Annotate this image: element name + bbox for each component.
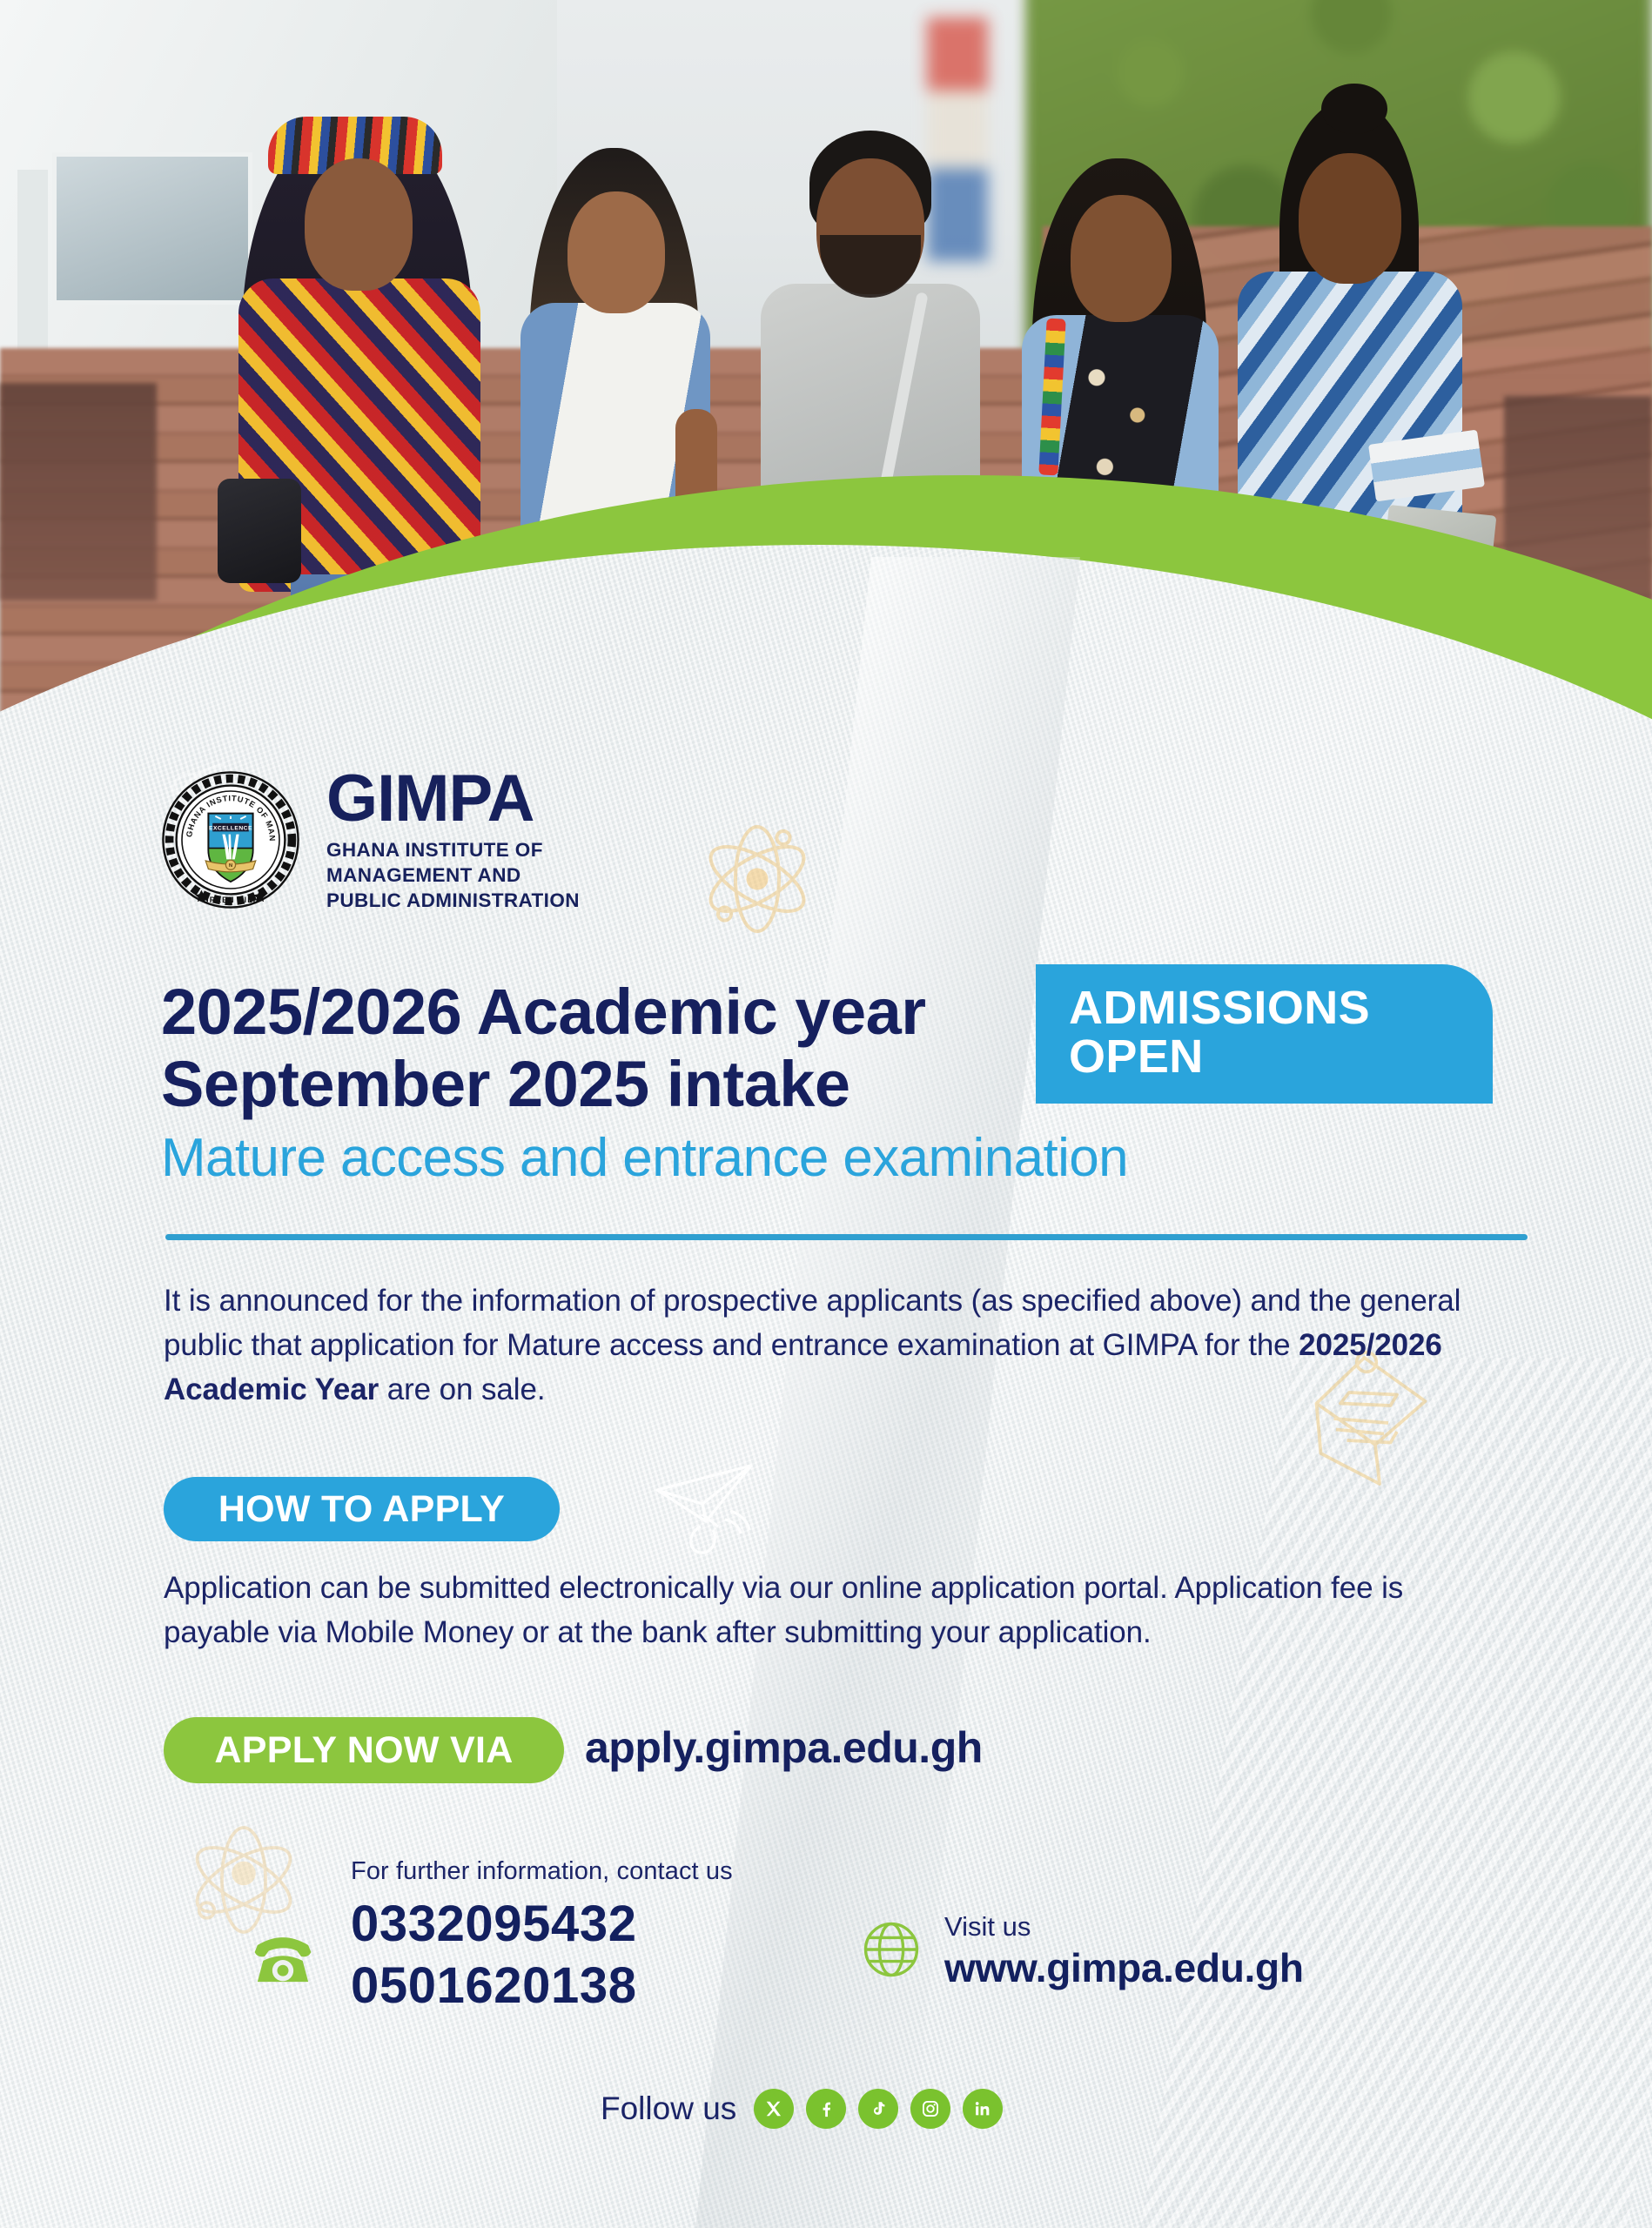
svg-text:GREEN HILL: GREEN HILL <box>203 896 259 904</box>
application-paragraph: Application can be submitted electronica… <box>164 1567 1469 1655</box>
phone-number-2: 0501620138 <box>351 1956 637 2017</box>
section-divider <box>165 1234 1528 1240</box>
brand-sub-line-1: GHANA INSTITUTE OF <box>326 838 580 863</box>
follow-us-row: Follow us <box>601 2089 1003 2129</box>
admissions-badge-line-2: OPEN <box>1069 1032 1467 1081</box>
admissions-poster: GHANA INSTITUTE OF MANAGEMENT AND PUBLIC… <box>0 0 1652 2228</box>
admissions-badge-line-1: ADMISSIONS <box>1069 983 1467 1032</box>
page-subtitle: Mature access and entrance examination <box>161 1127 1128 1189</box>
announcement-text-pre: It is announced for the information of p… <box>164 1284 1461 1362</box>
phone-number-1: 0332095432 <box>351 1894 637 1956</box>
brand-subtitle: GHANA INSTITUTE OF MANAGEMENT AND PUBLIC… <box>326 838 580 913</box>
headline-row: 2025/2026 Academic year September 2025 i… <box>161 976 1562 1121</box>
headline-line-2: September 2025 intake <box>161 1049 1058 1121</box>
linkedin-icon[interactable] <box>963 2089 1003 2129</box>
tiktok-icon[interactable] <box>858 2089 898 2129</box>
apply-portal-link[interactable]: apply.gimpa.edu.gh <box>585 1722 983 1773</box>
website-link[interactable]: www.gimpa.edu.gh <box>944 1944 1304 1991</box>
apply-now-badge: APPLY NOW VIA <box>164 1717 564 1783</box>
telephone-icon <box>246 1927 319 1986</box>
how-to-apply-badge: HOW TO APPLY <box>164 1477 560 1541</box>
instagram-icon[interactable] <box>910 2089 950 2129</box>
follow-us-label: Follow us <box>601 2090 736 2127</box>
headline-line-1: 2025/2026 Academic year <box>161 976 1058 1049</box>
globe-icon <box>862 1920 921 1979</box>
facebook-icon[interactable] <box>806 2089 846 2129</box>
poster-content: GHANA INSTITUTE OF MANAGEMENT AND PUBLIC… <box>0 0 1652 2228</box>
brand-sub-line-3: PUBLIC ADMINISTRATION <box>326 889 580 914</box>
admissions-open-badge: ADMISSIONS OPEN <box>1036 964 1493 1104</box>
svg-text:N: N <box>229 863 232 869</box>
brand-text: GIMPA GHANA INSTITUTE OF MANAGEMENT AND … <box>326 766 580 913</box>
contact-note: For further information, contact us <box>351 1857 733 1886</box>
brand-name: GIMPA <box>326 766 580 832</box>
announcement-text-post: are on sale. <box>379 1372 545 1406</box>
brand-sub-line-2: MANAGEMENT AND <box>326 863 580 889</box>
gimpa-seal-icon: GHANA INSTITUTE OF MANAGEMENT AND PUBLIC… <box>161 770 300 909</box>
x-twitter-icon[interactable] <box>754 2089 794 2129</box>
contact-phone-numbers: 0332095432 0501620138 <box>351 1894 637 2017</box>
brand-lockup: GHANA INSTITUTE OF MANAGEMENT AND PUBLIC… <box>161 766 580 913</box>
announcement-paragraph: It is announced for the information of p… <box>164 1279 1534 1412</box>
page-title: 2025/2026 Academic year September 2025 i… <box>161 976 1058 1121</box>
visit-us-label: Visit us <box>944 1911 1031 1943</box>
svg-text:EXCELLENCE: EXCELLENCE <box>209 825 252 831</box>
